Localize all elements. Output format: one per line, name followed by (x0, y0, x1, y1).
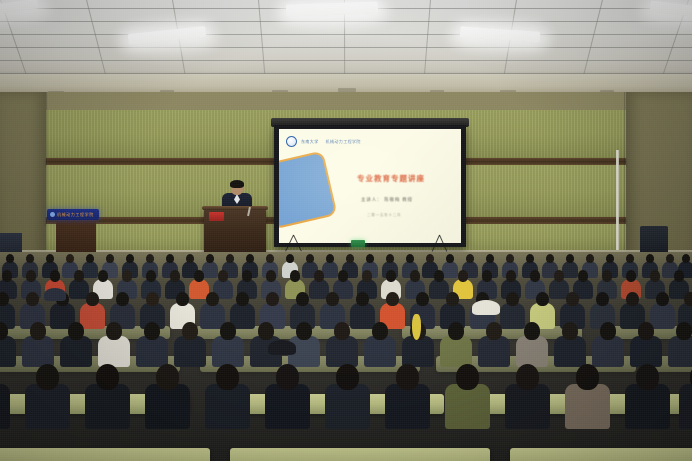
audience-member-head (30, 322, 46, 340)
audience-member-head (356, 292, 369, 306)
audience-member-head (266, 292, 279, 306)
audience-member-head (314, 270, 324, 282)
audience-member-head (656, 292, 669, 306)
audience-member-torso (22, 336, 54, 368)
audience-member-torso (445, 384, 490, 429)
audience-member-head (50, 270, 60, 282)
audience-member-head (218, 270, 228, 282)
audience-member-head (602, 270, 612, 282)
yellow-scarf (412, 314, 421, 340)
audience-member-torso (85, 384, 130, 429)
audience-member-head (336, 364, 359, 390)
led-banner-sign: 机械动力工程学院 (47, 209, 99, 220)
audience-member-head (106, 322, 122, 340)
led-sign-text: 机械动力工程学院 (57, 212, 94, 218)
audience-member-head (636, 364, 659, 390)
audience-member-head (296, 292, 309, 306)
audience-member-torso (212, 336, 244, 368)
slide-footnote-text: 二零一五年十二月 (367, 213, 453, 218)
ceiling-grid-line (0, 34, 692, 35)
ceiling-grid-line (258, 0, 266, 80)
audience-member-head (276, 364, 299, 390)
audience-member-head (650, 270, 660, 282)
audience-member-torso (516, 336, 548, 368)
beanie-hat (44, 288, 66, 301)
audience-member-torso (0, 384, 10, 429)
audience-member-head (554, 270, 564, 282)
ceiling-grid-line (582, 0, 603, 80)
audience-member-head (434, 270, 444, 282)
ceiling-light-halo (116, 22, 220, 55)
audience-member-torso (136, 336, 168, 368)
audience-member-head (516, 364, 539, 390)
audience-member-torso (364, 336, 396, 368)
audience-member-torso (80, 303, 106, 329)
baseball-cap-white (472, 300, 500, 315)
audience-member-torso (385, 384, 430, 429)
audience-member-torso (325, 384, 370, 429)
audience-member-head (416, 292, 429, 306)
audience-member-head (98, 270, 108, 282)
audience-member-head (506, 270, 516, 282)
audience-member-head (576, 364, 599, 390)
audience-member-torso (625, 384, 670, 429)
audience-member-head (626, 270, 636, 282)
lecture-hall-photo: 东南大学 机械动力工程学院 专业教育专题讲座 主讲人： 陈敬梅 教授 二零一五年… (0, 0, 692, 461)
audience-member-head (216, 364, 239, 390)
audience-member-head (266, 270, 276, 282)
gooseneck-microphone-icon (247, 207, 251, 216)
audience-member-head (456, 364, 479, 390)
audience-member-head (562, 322, 578, 340)
audience-member-torso (650, 303, 676, 329)
audience-member-head (182, 322, 198, 340)
ceiling-grid-line (0, 47, 692, 48)
audience-member-torso (25, 384, 70, 429)
slide-header-left-text: 东南大学 (301, 139, 319, 145)
audience-member-head (446, 292, 459, 306)
audience-member-head (410, 270, 420, 282)
led-sign-dot-icon (50, 212, 55, 217)
audience-member-head (536, 292, 549, 306)
audience-member-head (626, 292, 639, 306)
auditorium-seat-back (510, 448, 692, 461)
audience-member-head (36, 364, 59, 390)
audience-member-head (448, 322, 464, 340)
audience-member-head (486, 322, 502, 340)
audience-member-head (156, 364, 179, 390)
audience-member-head (236, 292, 249, 306)
audience-member-head (326, 292, 339, 306)
audience-member-torso (668, 336, 692, 368)
audience-member-head (362, 270, 372, 282)
audience-member-head (676, 322, 692, 340)
audience-member-torso (265, 384, 310, 429)
slide-subtitle-text: 主讲人： 陈敬梅 教授 (361, 197, 453, 203)
audience-member-head (290, 270, 300, 282)
wall-seam-left (46, 92, 48, 260)
ceiling (0, 0, 692, 80)
audience-member-torso (145, 384, 190, 429)
slide-header: 东南大学 机械动力工程学院 (286, 136, 453, 147)
audience-member-head (170, 270, 180, 282)
screen-frame: 东南大学 机械动力工程学院 专业教育专题讲座 主讲人： 陈敬梅 教授 二零一五年… (274, 125, 466, 247)
audience-member-head (122, 270, 132, 282)
audience-member-torso (326, 336, 358, 368)
audience-member-torso (205, 384, 250, 429)
audience-member-torso (478, 336, 510, 368)
audience-member-head (296, 322, 312, 340)
audience-member-head (530, 270, 540, 282)
ceiling-grid-line (86, 0, 108, 80)
slide-decor-shape (279, 150, 338, 229)
ceiling-grid-line (0, 60, 692, 61)
audience-member-head (68, 322, 84, 340)
audience-member-head (600, 322, 616, 340)
lectern-top (202, 206, 268, 210)
audience-member-torso (630, 336, 662, 368)
audience-member-head (334, 322, 350, 340)
audience-member-head (2, 270, 12, 282)
audience-member-head (396, 364, 419, 390)
audience-member-head (96, 364, 119, 390)
emergency-exit-sign (351, 240, 365, 247)
slide-title-text: 专业教育专题讲座 (357, 173, 455, 184)
audience-member-torso (0, 336, 16, 368)
wall-seam-right (624, 92, 626, 260)
wall-pole (616, 150, 619, 250)
audience-member-torso (202, 261, 219, 278)
audience-member-head (146, 292, 159, 306)
audience-member-head (596, 292, 609, 306)
audience-member-head (638, 322, 654, 340)
audience-member-head (386, 270, 396, 282)
audience-member-head (74, 270, 84, 282)
projection-screen: 东南大学 机械动力工程学院 专业教育专题讲座 主讲人： 陈敬梅 教授 二零一五年… (271, 118, 469, 252)
lectern (204, 209, 266, 255)
audience-member-head (220, 322, 236, 340)
audience-member-torso (565, 384, 610, 429)
audience-area (0, 252, 692, 461)
audience-member-torso (402, 336, 434, 368)
audience-member-torso (554, 336, 586, 368)
audience-member-torso (442, 261, 459, 278)
audience-member-head (26, 292, 39, 306)
audience-member-torso (60, 336, 92, 368)
audience-member-head (176, 292, 189, 306)
audience-member-head (524, 322, 540, 340)
baseball-cap (268, 340, 296, 355)
audience-member-head (458, 270, 468, 282)
audience-member-head (674, 270, 684, 282)
audience-member-head (206, 292, 219, 306)
presenter-hair (230, 180, 244, 188)
university-crest-logo (286, 136, 297, 147)
audience-member-torso (98, 336, 130, 368)
projected-slide: 东南大学 机械动力工程学院 专业教育专题讲座 主讲人： 陈敬梅 教授 二零一五年… (279, 129, 461, 243)
audience-member-head (506, 292, 519, 306)
audience-member-torso (440, 336, 472, 368)
audience-member-head (482, 270, 492, 282)
audience-member-head (26, 270, 36, 282)
audience-member-head (566, 292, 579, 306)
audience-member-head (194, 270, 204, 282)
audience-member-head (116, 292, 129, 306)
slide-header-right-text: 机械动力工程学院 (326, 139, 361, 145)
auditorium-seat-back (230, 448, 490, 461)
audience-member-head (578, 270, 588, 282)
audience-member-torso (350, 303, 376, 329)
audience-member-torso (562, 261, 579, 278)
audience-member-head (372, 322, 388, 340)
audience-member-torso (592, 336, 624, 368)
ceiling-grid-line (423, 0, 431, 80)
audience-member-torso (82, 261, 99, 278)
audience-member-torso (322, 261, 339, 278)
auditorium-seat-back (0, 448, 210, 461)
audience-member-head (684, 292, 692, 306)
audience-member-head (146, 270, 156, 282)
audience-member-head (258, 322, 274, 340)
audience-member-head (86, 292, 99, 306)
audience-member-torso (679, 384, 692, 429)
audience-member-torso (174, 336, 206, 368)
red-document (209, 212, 224, 221)
audience-member-torso (500, 303, 526, 329)
audience-member-head (144, 322, 160, 340)
audience-member-torso (505, 384, 550, 429)
audience-member-head (242, 270, 252, 282)
audience-member-head (338, 270, 348, 282)
ceiling-light-halo (448, 21, 554, 54)
audience-member-head (386, 292, 399, 306)
